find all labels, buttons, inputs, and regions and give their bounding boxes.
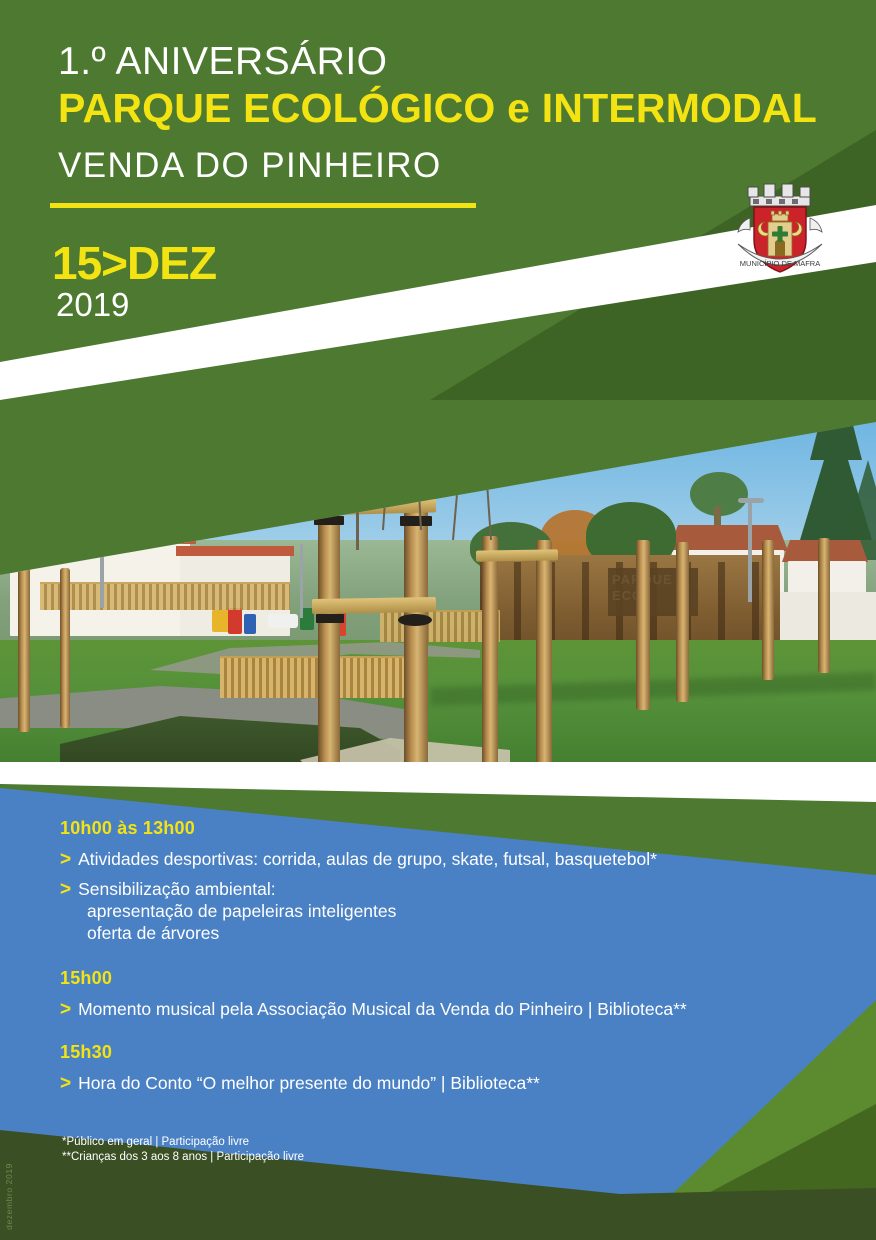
photo-strap-a	[314, 516, 344, 525]
chevron-right-icon: >	[60, 879, 71, 901]
photo-stake-far-left	[18, 562, 30, 732]
program-item-1-2: >Sensibilização ambiental:	[60, 878, 276, 901]
photo-stake-mid-b	[536, 540, 552, 776]
arrow-right-icon: >	[101, 240, 127, 286]
event-date: 15>DEZ	[52, 240, 216, 286]
program-subline-2: oferta de árvores	[87, 922, 219, 944]
photo-playground-blue	[244, 614, 256, 634]
photo-lamp-head-1	[88, 484, 118, 490]
vertical-credit: dezembro 2019	[4, 1163, 14, 1230]
page-subtitle-locality: VENDA DO PINHEIRO	[58, 148, 442, 183]
emblem-scroll-text: MUNICÍPIO DE MAFRA	[740, 259, 820, 268]
event-date-day: 15	[52, 237, 101, 289]
program-time-1: 10h00 às 13h00	[60, 818, 195, 839]
photo-apartment-roof-2	[176, 546, 294, 556]
photo-strap-c	[316, 614, 344, 623]
photo-crossrail-mid	[476, 549, 558, 561]
photo-strap-b	[400, 516, 432, 526]
program-subline-1: apresentação de papeleiras inteligentes	[87, 900, 396, 922]
photo-apartment-roof	[6, 532, 196, 544]
program-time-3: 15h30	[60, 1042, 112, 1063]
poster-root: PARQUE ECO	[0, 0, 876, 1240]
chevron-right-icon: >	[60, 1073, 71, 1095]
photo-lamp-head-2	[738, 498, 764, 503]
event-date-month: DEZ	[127, 237, 216, 289]
program-item-text: Atividades desportivas: corrida, aulas d…	[78, 849, 657, 869]
chevron-right-icon: >	[60, 999, 71, 1021]
photo-strap-d	[398, 614, 432, 626]
program-item-text: Hora do Conto “O melhor presente do mund…	[78, 1073, 540, 1093]
photo-crossrail-lower	[312, 597, 436, 614]
photo-stake-right-d	[818, 538, 830, 673]
photo-stake-far-left-2	[60, 568, 70, 728]
photo-lamp-post-1	[100, 488, 104, 608]
program-time-2: 15h00	[60, 968, 112, 989]
photo-parked-car	[268, 614, 298, 628]
program-item-3-1: >Hora do Conto “O melhor presente do mun…	[60, 1072, 540, 1095]
photo-fence-left	[40, 582, 290, 610]
program-item-text: Momento musical pela Associação Musical …	[78, 999, 687, 1019]
photo-lamp-post-2	[748, 502, 752, 602]
program-item-2-1: >Momento musical pela Associação Musical…	[60, 998, 687, 1021]
photo-stake-mid-a	[482, 536, 498, 776]
chevron-right-icon: >	[60, 849, 71, 871]
photo-playground-panel	[228, 608, 242, 634]
photo-leaf-7	[504, 416, 518, 427]
page-title-park: PARQUE ECOLÓGICO e INTERMODAL	[58, 88, 817, 129]
title-divider-rule	[50, 203, 476, 208]
municipality-emblem: MUNICÍPIO DE MAFRA	[720, 178, 840, 290]
coat-of-arms-icon: MUNICÍPIO DE MAFRA	[720, 178, 840, 290]
program-item-text: Sensibilização ambiental:	[78, 879, 275, 899]
event-year: 2019	[56, 288, 129, 321]
photo-lamp-post-3	[300, 544, 303, 618]
program-item-1-1: >Atividades desportivas: corrida, aulas …	[60, 848, 657, 871]
photo-contrail-secondary	[120, 448, 540, 465]
photo-stake-right-a	[636, 540, 650, 710]
photo-stake-right-c	[762, 540, 774, 680]
page-title-anniversary: 1.º ANIVERSÁRIO	[58, 42, 388, 81]
footnotes: *Público em geral | Participação livre *…	[62, 1135, 304, 1165]
photo-stake-right-b	[676, 542, 689, 702]
